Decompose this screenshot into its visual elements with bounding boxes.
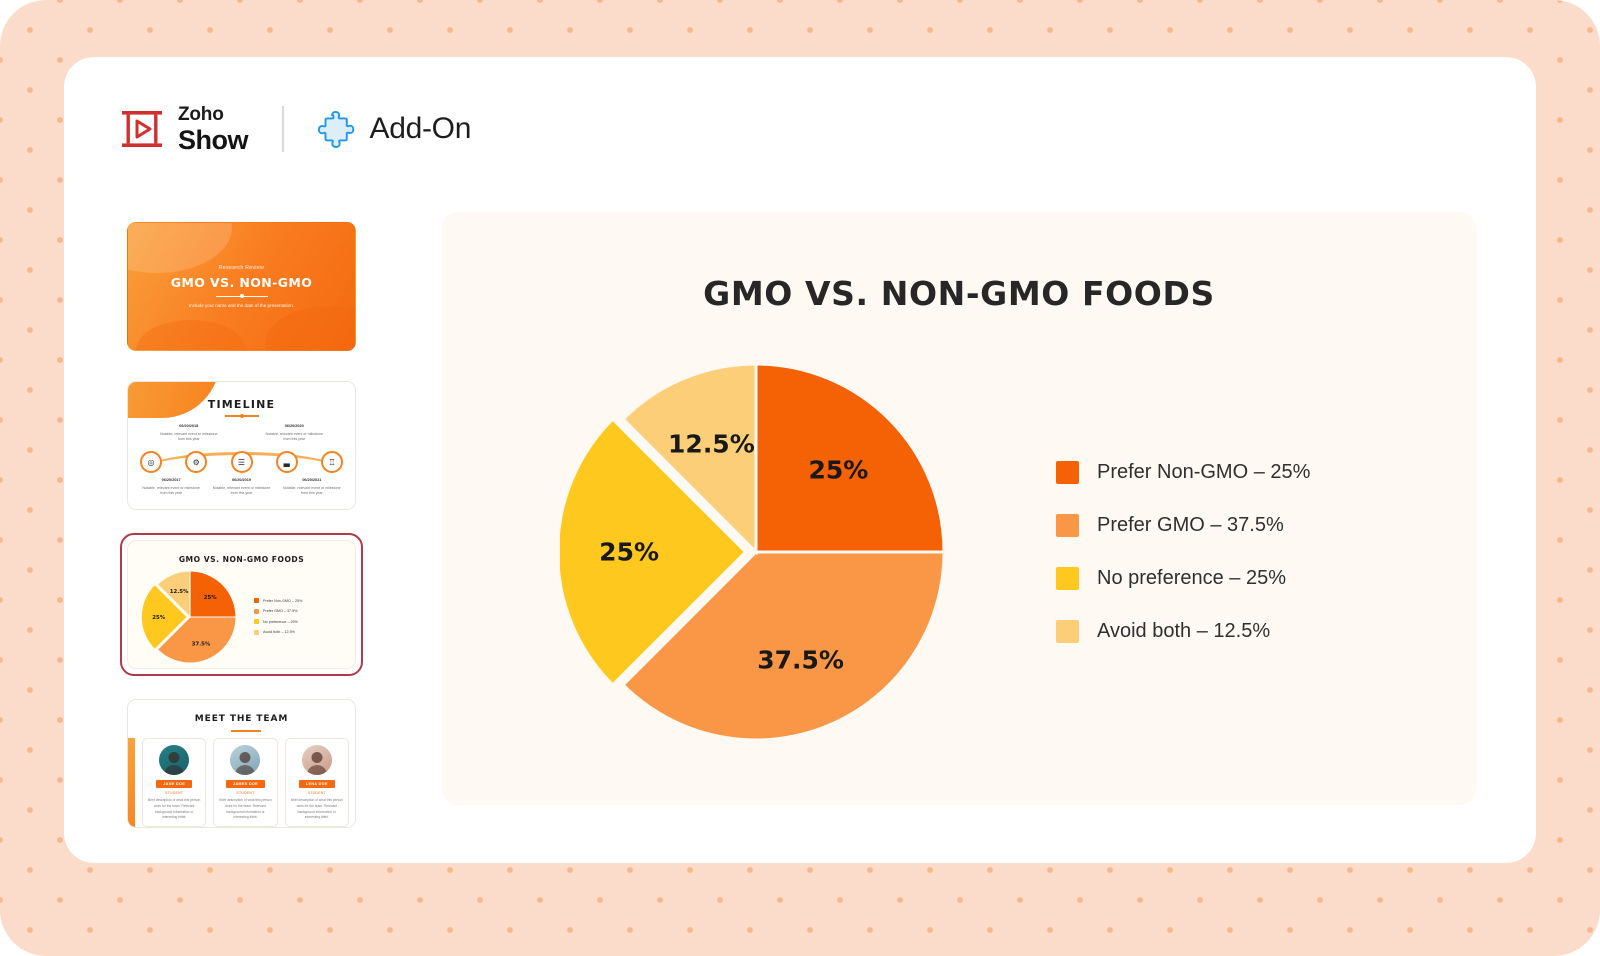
legend-label: No preference – 25% [263,620,298,624]
slide1-title: GMO VS. NON-GMO [171,275,313,290]
slide4-title: MEET THE TEAM [128,714,355,724]
chart-title: GMO VS. NON-GMO FOODS [442,274,1476,313]
team-member-card: JANE DOE STUDENT Brief description of wh… [142,738,206,827]
member-role: STUDENT [165,791,183,795]
addon-badge[interactable]: Add-On [318,110,472,148]
legend-label: No preference – 25% [1097,567,1286,590]
slide-thumbnail-2[interactable]: TIMELINE 06/20/2018Notable, relevant eve… [120,374,363,517]
timeline-top-labels: 06/20/2018Notable, relevant event or mil… [136,424,347,442]
member-role: STUDENT [308,791,326,795]
timeline-date: 06/20/2018 [157,424,220,430]
zoho-show-play-icon [120,109,164,149]
thumbnail-legend: Prefer Non-GMO – 25% Prefer GMO – 37.5% … [254,598,302,635]
thumbnail-pie-chart: 25%37.5%25%12.5% [140,565,244,669]
pie-slice-label: 25% [152,615,166,621]
timeline-track: ◎ ⚙ ☰ ▃ ♖ [140,450,343,474]
timeline-date: 06/20/2017 [142,478,201,484]
legend-swatch [254,630,259,635]
workspace: Research Review GMO VS. NON-GMO Include … [120,212,1536,863]
legend-swatch [254,609,259,614]
slide1-eyebrow: Research Review [171,265,313,271]
legend-label: Prefer GMO – 37.5% [263,609,297,613]
pie-slice-label: 25% [599,538,659,567]
legend-item: Prefer GMO – 37.5% [254,609,302,614]
slide-thumbnail-4[interactable]: MEET THE TEAM JANE DOE STUDENT Brief des… [120,692,363,835]
chart-slide-preview: GMO VS. NON-GMO FOODS 25%37.5%25%12.5% P… [127,540,356,669]
legend-item-prefer-gmo[interactable]: Prefer GMO – 37.5% [1056,514,1310,537]
legend-swatch [1056,567,1079,590]
timeline-desc: Notable, relevant event or milestone fro… [142,486,200,495]
brand-wordmark: Zoho Show [178,105,248,154]
pie-chart[interactable]: 25%37.5%25%12.5% [560,352,960,752]
chart-legend: Prefer Non-GMO – 25% Prefer GMO – 37.5% … [1056,461,1310,643]
member-role: STUDENT [236,791,254,795]
legend-swatch [254,619,259,624]
legend-label: Prefer Non-GMO – 25% [263,599,302,603]
decorative-wave [265,306,356,351]
pie-slice-label: 37.5% [192,641,211,647]
timeline-date: 06/20/2019 [212,478,271,484]
member-name: JANE DOE [156,780,192,788]
puzzle-piece-icon [318,110,356,148]
legend-label: Avoid both – 12.5% [263,630,295,634]
timeline-date: 06/20/2021 [282,478,341,484]
legend-swatch [1056,620,1079,643]
timeline-slide-preview: TIMELINE 06/20/2018Notable, relevant eve… [127,381,356,510]
timeline-desc: Notable, relevant event or milestone fro… [265,432,323,441]
clipboard-icon: ☰ [231,451,253,473]
app-window-card: Zoho Show Add-On [64,57,1536,863]
brand-show-text: Show [178,127,248,154]
slide2-title: TIMELINE [128,398,355,411]
legend-item-no-preference[interactable]: No preference – 25% [1056,567,1310,590]
legend-item: No preference – 25% [254,619,302,624]
team-slide-preview: MEET THE TEAM JANE DOE STUDENT Brief des… [127,699,356,828]
slide-thumbnail-1[interactable]: Research Review GMO VS. NON-GMO Include … [120,215,363,358]
pie-slice-label: 37.5% [757,645,844,674]
pie-slice-label: 25% [808,455,868,484]
timeline-desc: Notable, relevant event or milestone fro… [160,432,218,441]
app-header: Zoho Show Add-On [120,97,471,161]
legend-item: Prefer Non-GMO – 25% [254,598,302,603]
zoho-show-brand[interactable]: Zoho Show [120,105,248,154]
brand-zoho-text: Zoho [178,105,248,124]
trophy-icon: ♖ [321,451,343,473]
member-name: JAMES DOE [226,780,265,788]
slide-thumbnail-rail[interactable]: Research Review GMO VS. NON-GMO Include … [120,212,420,863]
bar-chart-icon: ▃ [276,451,298,473]
team-member-card: JAMES DOE STUDENT Brief description of w… [213,738,277,827]
title-slide-preview: Research Review GMO VS. NON-GMO Include … [127,222,356,351]
legend-label: Avoid both – 12.5% [1097,620,1270,643]
pie-slice-label: 12.5% [668,430,755,459]
pie-slice[interactable] [190,571,236,617]
slide1-divider [216,296,268,297]
chart-area: 25%37.5%25%12.5% Prefer Non-GMO – 25% Pr… [442,352,1476,752]
legend-item-avoid-both[interactable]: Avoid both – 12.5% [1056,620,1310,643]
member-name: LENA DOE [299,780,335,788]
decorative-wave [136,320,246,351]
timeline-date: 06/20/2020 [263,424,326,430]
page-root: Zoho Show Add-On [0,0,1600,956]
timeline-desc: Notable, relevant event or milestone fro… [283,486,341,495]
header-divider [282,106,284,152]
slide4-divider [231,730,261,732]
target-icon: ◎ [140,451,162,473]
avatar [302,745,332,775]
avatar [230,745,260,775]
member-description: Brief description of what this person do… [290,798,344,820]
member-description: Brief description of what this person do… [218,798,272,820]
timeline-desc: Notable, relevant event or milestone fro… [213,486,271,495]
timeline-bottom-labels: 06/20/2017Notable, relevant event or mil… [136,478,347,496]
avatar [159,745,189,775]
slide3-title: GMO VS. NON-GMO FOODS [128,555,355,564]
addon-label: Add-On [370,112,472,146]
pie-slice-label: 12.5% [170,588,189,594]
team-member-card: LENA DOE STUDENT Brief description of wh… [285,738,349,827]
slide-canvas[interactable]: GMO VS. NON-GMO FOODS 25%37.5%25%12.5% P… [442,212,1476,805]
legend-swatch [254,598,259,603]
legend-item: Avoid both – 12.5% [254,630,302,635]
member-description: Brief description of what this person do… [147,798,201,820]
legend-label: Prefer Non-GMO – 25% [1097,461,1310,484]
team-card-list: JANE DOE STUDENT Brief description of wh… [142,738,349,827]
slide-thumbnail-3[interactable]: GMO VS. NON-GMO FOODS 25%37.5%25%12.5% P… [120,533,363,676]
legend-swatch [1056,461,1079,484]
pie-slice-label: 25% [204,595,218,601]
legend-item-prefer-non-gmo[interactable]: Prefer Non-GMO – 25% [1056,461,1310,484]
legend-swatch [1056,514,1079,537]
legend-label: Prefer GMO – 37.5% [1097,514,1284,537]
slide2-divider [225,415,259,417]
slide1-subtitle: Include your name and the date of the pr… [171,303,313,308]
